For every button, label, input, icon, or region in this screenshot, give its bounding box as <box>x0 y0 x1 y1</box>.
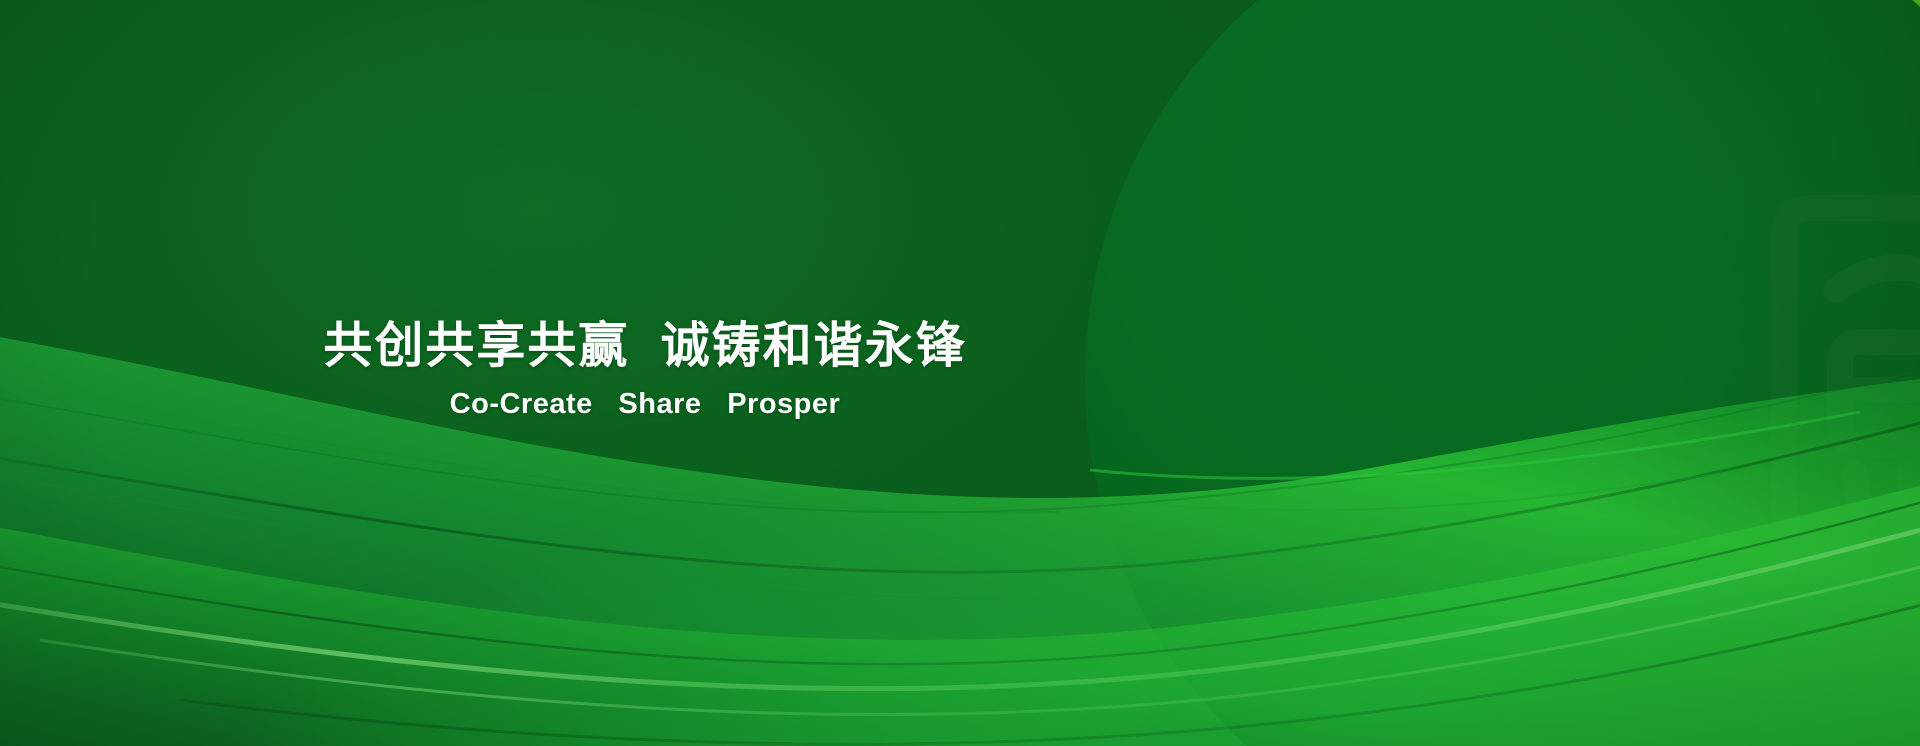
banner-headline: 共创共享共赢 诚铸和谐永锋 <box>0 318 1290 375</box>
hero-banner: 共创共享共赢 诚铸和谐永锋 Co-Create Share Prosper <box>0 0 1920 746</box>
banner-subline: Co-Create Share Prosper <box>0 389 1290 421</box>
banner-text-block: 共创共享共赢 诚铸和谐永锋 Co-Create Share Prosper <box>0 318 1290 421</box>
